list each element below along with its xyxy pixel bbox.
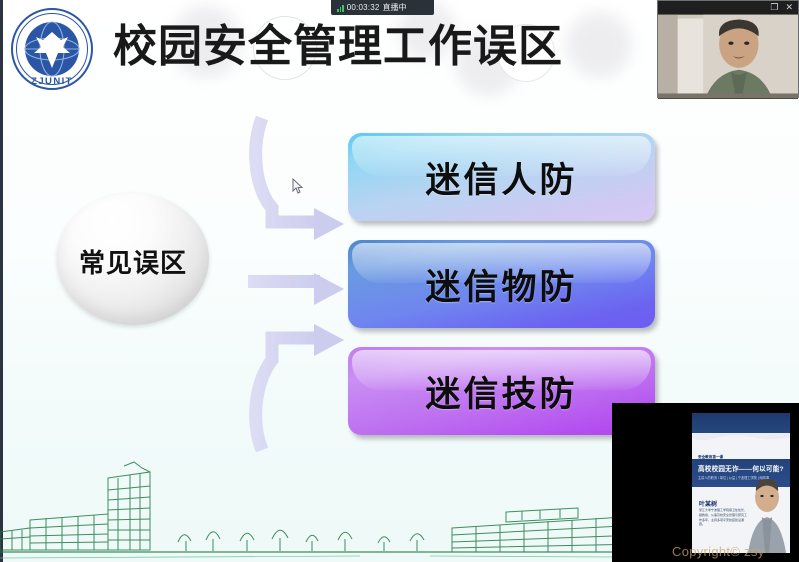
- item-box-1-label: 迷信人防: [425, 152, 577, 203]
- live-timer: 00:03:32: [347, 3, 380, 12]
- presentation-slide: ZJUNIT 校园安全管理工作误区 00:03:32 直播中 常见误区 迷信人防: [0, 0, 799, 562]
- speaker-video-feed: [658, 14, 798, 99]
- poster-kicker: 安全教育第一课: [698, 455, 723, 460]
- video-window-titlebar: ❐ ✕: [658, 1, 798, 14]
- live-label: 直播中: [383, 2, 407, 13]
- poster-speaker-name: 叶某树: [699, 499, 717, 508]
- pip-video-window[interactable]: 安全教育第一课 高校校园无诈——何以可能? 主讲人的职务 / 单位 | 公益 |…: [612, 403, 799, 562]
- poster-header: [692, 413, 790, 435]
- poster-speaker-photo: [746, 475, 788, 553]
- close-icon[interactable]: ✕: [785, 3, 793, 12]
- item-box-3[interactable]: 迷信技防: [348, 347, 655, 435]
- lecture-poster: 安全教育第一课 高校校园无诈——何以可能? 主讲人的职务 / 单位 | 公益 |…: [692, 413, 790, 553]
- poster-speaker-bio: 浙江大学宁波理工学院保卫处处长、副教授，从事高校安全管理与研究工作多年，主持多项…: [699, 508, 747, 527]
- svg-text:ZJUNIT: ZJUNIT: [31, 76, 73, 87]
- watermark: Copyright© zsy: [672, 544, 765, 559]
- poster-title: 高校校园无诈——何以可能?: [698, 463, 784, 473]
- poster-wave: [692, 433, 790, 443]
- page-title: 校园安全管理工作误区: [113, 18, 563, 76]
- source-node: 常见误区: [57, 193, 209, 325]
- item-box-2[interactable]: 迷信物防: [348, 240, 655, 328]
- decorative-blob: [566, 12, 632, 78]
- maximize-icon[interactable]: ❐: [770, 3, 778, 12]
- speaker-video-window[interactable]: ❐ ✕: [657, 0, 799, 98]
- item-box-3-label: 迷信技防: [425, 366, 577, 417]
- item-box-2-label: 迷信物防: [425, 259, 577, 310]
- signal-bars-icon: [337, 4, 344, 12]
- item-box-1[interactable]: 迷信人防: [348, 133, 655, 221]
- source-node-label: 常见误区: [79, 243, 187, 280]
- live-status-bar: 00:03:32 直播中: [331, 0, 434, 15]
- mouse-cursor: [292, 178, 304, 194]
- zjunit-university-logo: ZJUNIT: [8, 6, 96, 92]
